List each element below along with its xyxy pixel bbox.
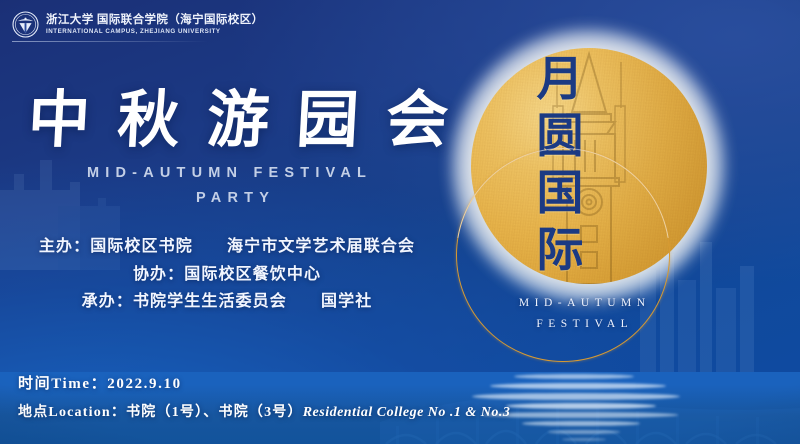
- subtitle-line-2: PARTY: [196, 190, 275, 206]
- logo-name-en: INTERNATIONAL CAMPUS, ZHEJIANG UNIVERSIT…: [46, 27, 263, 36]
- event-location: 地点Location：书院（1号）、书院（3号）Residential Coll…: [18, 401, 510, 421]
- subtitle-line-1: MID-AUTUMN FESTIVAL: [87, 165, 372, 181]
- event-time-label: 时间Time：: [18, 376, 107, 392]
- moon-char-1: 月: [537, 52, 584, 109]
- moon-english-line-2: FESTIVAL: [464, 318, 700, 330]
- logo-divider: [12, 41, 208, 42]
- zhejiang-university-seal-icon: [12, 11, 39, 38]
- event-location-en: Residential College No .1 & No.3: [303, 405, 511, 420]
- logo-name-cn: 浙江大学 国际联合学院（海宁国际校区）: [46, 14, 263, 27]
- organizer-line-2: 协办：国际校区餐饮中心: [0, 260, 462, 284]
- left-content-column: 中 秋 游 园 会 MID-AUTUMN FESTIVAL PARTY 主办：国…: [0, 0, 470, 444]
- organizer-line-3: 承办：书院学生生活委员会 国学社: [0, 287, 462, 311]
- university-logo: 浙江大学 国际联合学院（海宁国际校区） INTERNATIONAL CAMPUS…: [12, 11, 263, 38]
- moon-english-line-1: MID-AUTUMN: [464, 297, 700, 309]
- event-location-cn: 书院（1号）、书院（3号）: [126, 405, 303, 420]
- poster-canvas: 浙江大学 国际联合学院（海宁国际校区） INTERNATIONAL CAMPUS…: [0, 0, 800, 444]
- page-title: 中 秋 游 园 会: [26, 86, 442, 156]
- event-location-label: 地点Location：: [18, 405, 126, 420]
- event-time: 时间Time：2022.9.10: [18, 372, 182, 393]
- event-time-value: 2022.9.10: [107, 376, 181, 392]
- organizer-line-1: 主办：国际校区书院 海宁市文学艺术届联合会: [0, 232, 462, 256]
